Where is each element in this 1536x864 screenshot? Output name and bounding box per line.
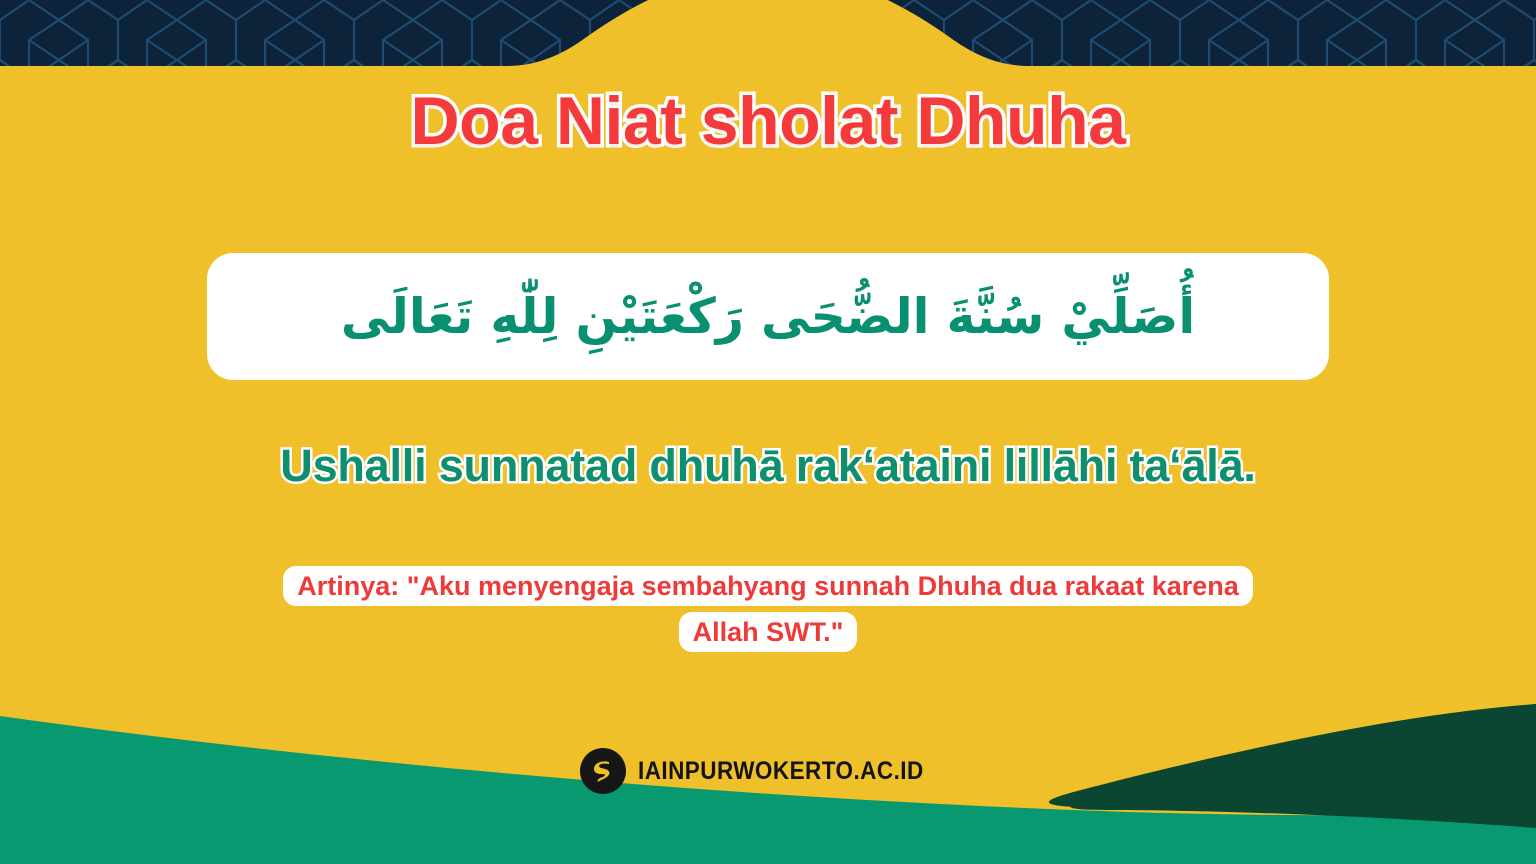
poster-content: Doa Niat sholat Dhuha أُصَلِّيْ سُنَّةَ …: [0, 0, 1536, 864]
meaning-text: Artinya: "Aku menyengaja sembahyang sunn…: [283, 566, 1253, 652]
transliteration-text: Ushalli sunnatad dhuhā rak‘ataini lillāh…: [0, 440, 1536, 492]
footer-website-label: IAINPURWOKERTO.AC.ID: [638, 757, 924, 786]
footer-branding: IAINPURWOKERTO.AC.ID: [0, 748, 1536, 794]
meaning-block: Artinya: "Aku menyengaja sembahyang sunn…: [268, 563, 1268, 655]
arabic-text-card: أُصَلِّيْ سُنَّةَ الضُّحَى رَكْعَتَيْنِ …: [207, 253, 1329, 380]
iain-logo-icon: [580, 748, 626, 794]
page-title: Doa Niat sholat Dhuha: [0, 82, 1536, 160]
arabic-dua-text: أُصَلِّيْ سُنَّةَ الضُّحَى رَكْعَتَيْنِ …: [317, 281, 1219, 352]
